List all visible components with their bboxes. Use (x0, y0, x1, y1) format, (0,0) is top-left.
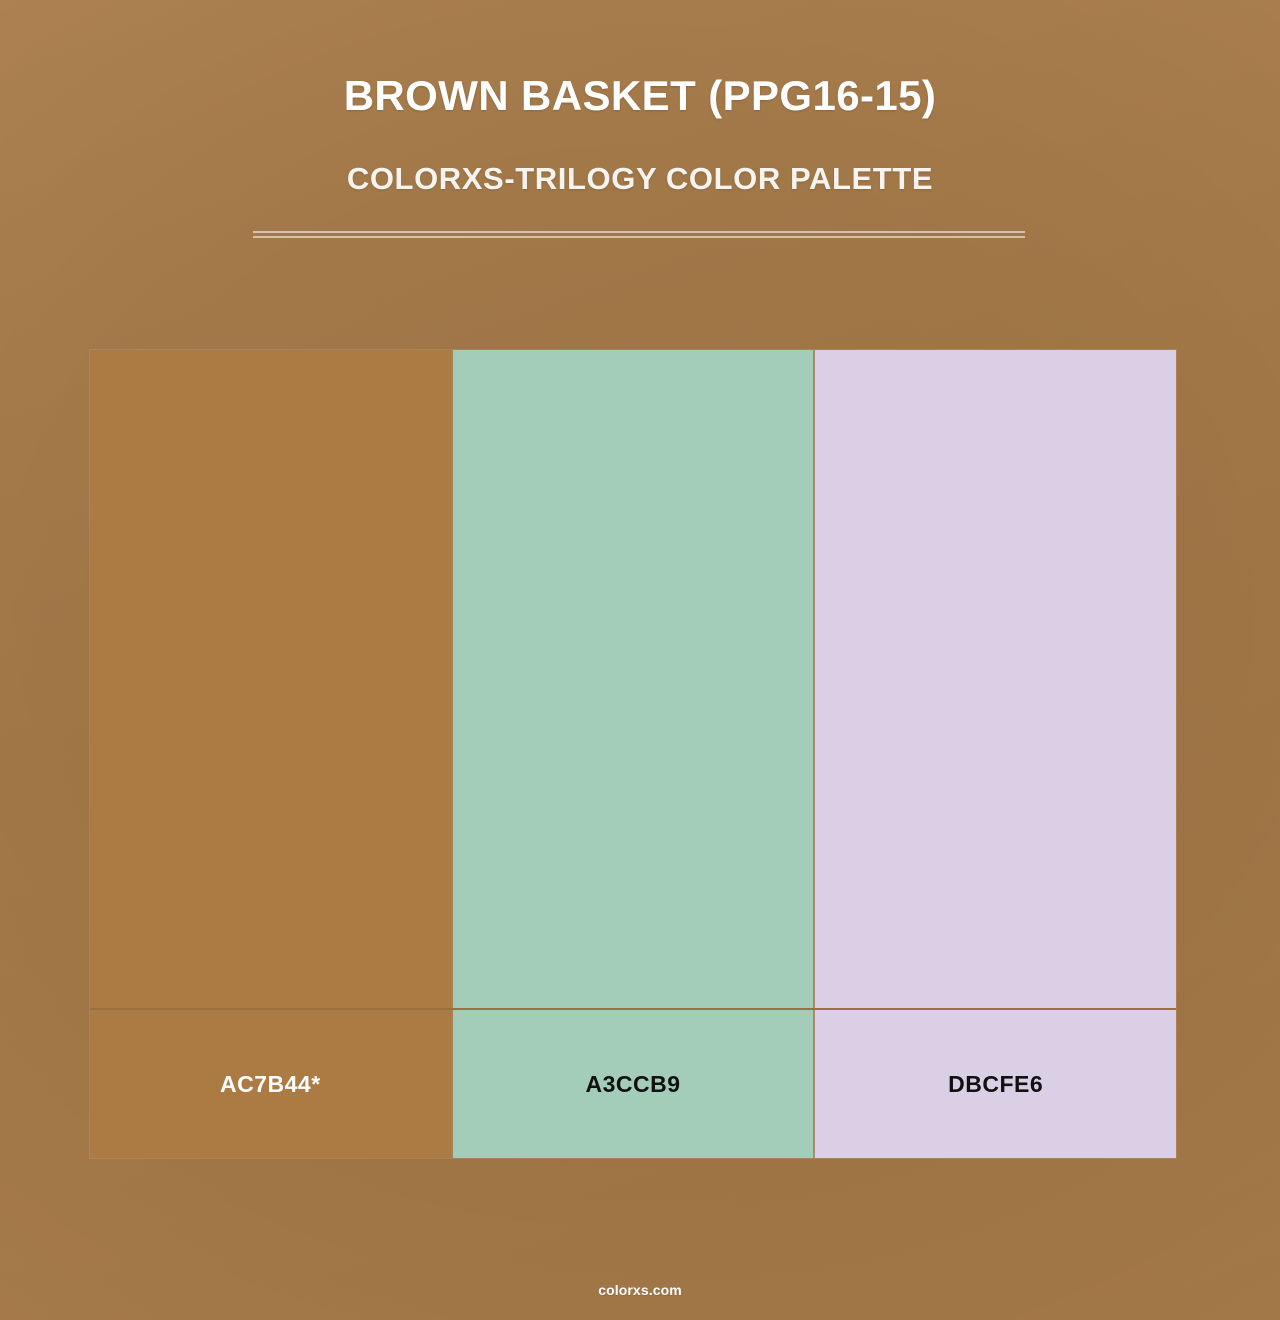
divider-line-top (253, 231, 1025, 233)
page-subtitle: COLORXS-TRILOGY COLOR PALETTE (0, 118, 1280, 196)
swatch-row (90, 350, 1176, 1008)
header-divider (253, 231, 1025, 238)
footer-site-label: colorxs.com (598, 1282, 682, 1298)
color-label-cell-3[interactable]: DBCFE6 (813, 1010, 1176, 1158)
color-swatch-1[interactable] (90, 350, 451, 1008)
header: BROWN BASKET (PPG16-15) COLORXS-TRILOGY … (0, 0, 1280, 196)
label-row: AC7B44* A3CCB9 DBCFE6 (90, 1008, 1176, 1158)
palette-page: BROWN BASKET (PPG16-15) COLORXS-TRILOGY … (0, 0, 1280, 1320)
color-palette: AC7B44* A3CCB9 DBCFE6 (90, 350, 1176, 1158)
color-swatch-3[interactable] (813, 350, 1176, 1008)
page-title: BROWN BASKET (PPG16-15) (0, 74, 1280, 118)
divider-line-bottom (253, 236, 1025, 238)
hex-code-2: A3CCB9 (585, 1073, 680, 1096)
hex-code-3: DBCFE6 (948, 1073, 1043, 1096)
color-label-cell-1[interactable]: AC7B44* (90, 1010, 451, 1158)
hex-code-1: AC7B44* (220, 1073, 321, 1096)
footer: colorxs.com (0, 1260, 1280, 1320)
color-swatch-2[interactable] (451, 350, 814, 1008)
color-label-cell-2[interactable]: A3CCB9 (451, 1010, 814, 1158)
